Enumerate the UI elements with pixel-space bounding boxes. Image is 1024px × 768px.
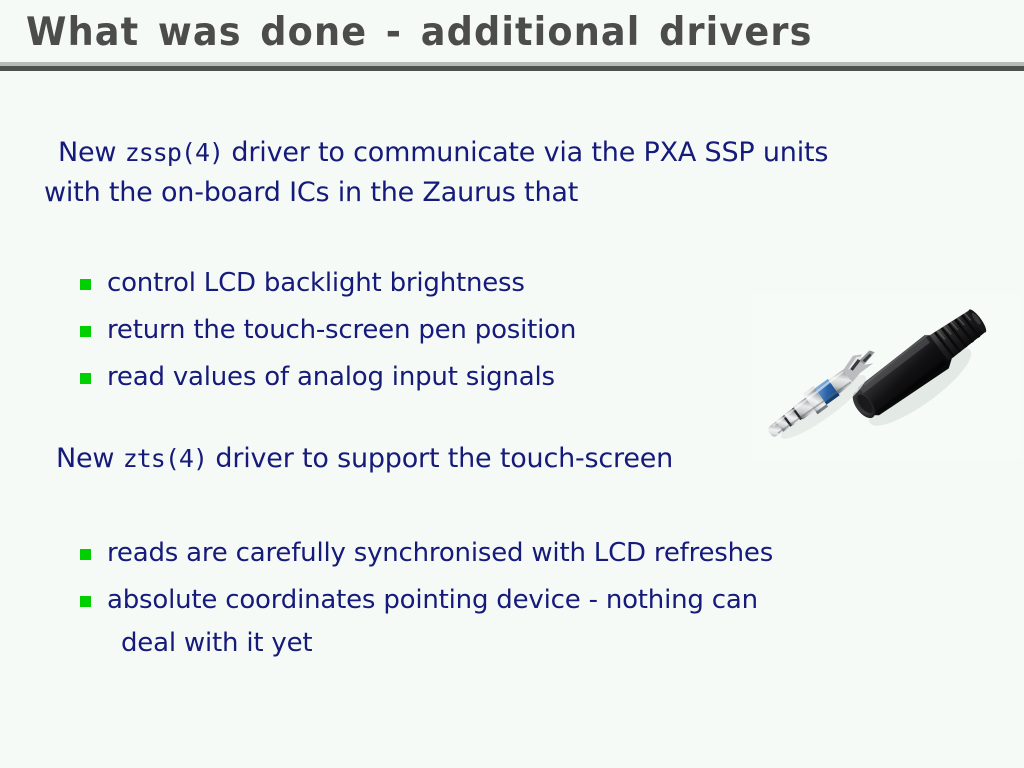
list-item: return the touch-screen pen position [80,309,740,352]
list-item: control LCD backlight brightness [80,262,740,305]
list-item: read values of analog input signals [80,356,740,399]
square-bullet-icon [80,596,91,607]
square-bullet-icon [80,326,91,337]
bullet-list-zts: reads are carefully synchronised with LC… [80,532,960,669]
intro-rest-text: driver to communicate via the PXA SSP un… [223,137,828,168]
audio-jack-connector-photo [752,294,1022,459]
list-item: reads are carefully synchronised with LC… [80,532,960,575]
square-bullet-icon [80,549,91,560]
intro-lead-text: New [58,137,125,168]
slide-title-bar: What was done - additional drivers [0,0,1024,72]
intro-paragraph: New zssp(4) driver to communicate via th… [44,133,984,213]
square-bullet-icon [80,279,91,290]
intro-line-2: with the on-board ICs in the Zaurus that [44,173,984,213]
list-item-label-line-1: absolute coordinates pointing device - n… [107,585,758,615]
list-item-label: absolute coordinates pointing device - n… [107,579,897,665]
driver-name-zts: zts(4) [123,444,207,473]
second-lead-text: New [56,443,123,474]
title-divider-dark [0,66,1024,71]
page-title: What was done - additional drivers [26,10,813,55]
second-rest-text: driver to support the touch-screen [207,443,673,474]
list-item-label: reads are carefully synchronised with LC… [107,532,960,575]
square-bullet-icon [80,373,91,384]
slide-content: New zssp(4) driver to communicate via th… [0,72,1024,768]
list-item-label: return the touch-screen pen position [107,309,740,352]
list-item-label: control LCD backlight brightness [107,262,740,305]
slide: What was done - additional drivers New z… [0,0,1024,768]
intro-line-1: New zssp(4) driver to communicate via th… [44,133,984,173]
driver-name-zssp: zssp(4) [125,138,223,167]
second-paragraph: New zts(4) driver to support the touch-s… [56,439,673,479]
list-item-label-line-2: deal with it yet [107,622,897,665]
list-item: absolute coordinates pointing device - n… [80,579,960,665]
list-item-label: read values of analog input signals [107,356,740,399]
bullet-list-zssp: control LCD backlight brightness return … [80,262,740,403]
